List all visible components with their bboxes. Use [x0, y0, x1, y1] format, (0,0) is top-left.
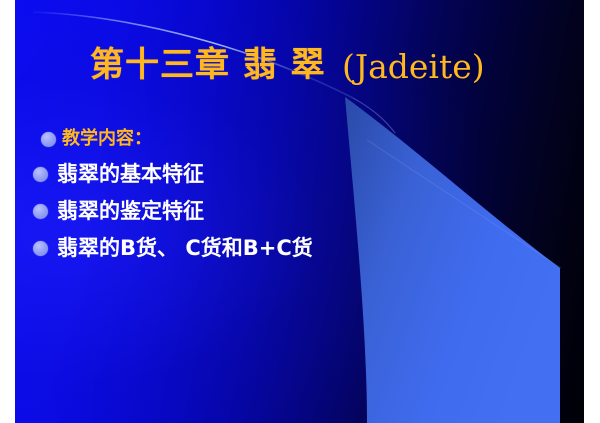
list-item[interactable]: 教学内容：	[41, 124, 453, 154]
list-item[interactable]: 翡翠的B货、 C货和B+C货	[33, 231, 453, 265]
circle-bullet-icon	[33, 204, 48, 219]
list-item-label: 翡翠的基本特征	[57, 162, 204, 186]
slide-canvas: 第十三章 翡 翠 (Jadeite) 教学内容： 翡翠的基本特征 翡翠的鉴定特征…	[15, 0, 584, 423]
page-title: 第十三章 翡 翠 (Jadeite)	[15, 42, 584, 98]
list-item-label: 翡翠的B货、 C货和B+C货	[57, 236, 313, 260]
circle-bullet-icon	[33, 241, 48, 256]
list-item-label: 教学内容：	[62, 127, 152, 151]
page-title-english: (Jadeite)	[342, 45, 485, 89]
list-item[interactable]: 翡翠的鉴定特征	[33, 194, 453, 228]
slide-root: 第十三章 翡 翠 (Jadeite) 教学内容： 翡翠的基本特征 翡翠的鉴定特征…	[0, 0, 600, 423]
list-item-label: 翡翠的鉴定特征	[57, 199, 204, 223]
page-title-chinese: 第十三章 翡 翠	[90, 42, 326, 88]
bullet-list: 教学内容： 翡翠的基本特征 翡翠的鉴定特征 翡翠的B货、 C货和B+C货	[33, 124, 453, 268]
circle-bullet-icon	[33, 167, 48, 182]
circle-bullet-icon	[41, 132, 56, 147]
list-item[interactable]: 翡翠的基本特征	[33, 157, 453, 191]
